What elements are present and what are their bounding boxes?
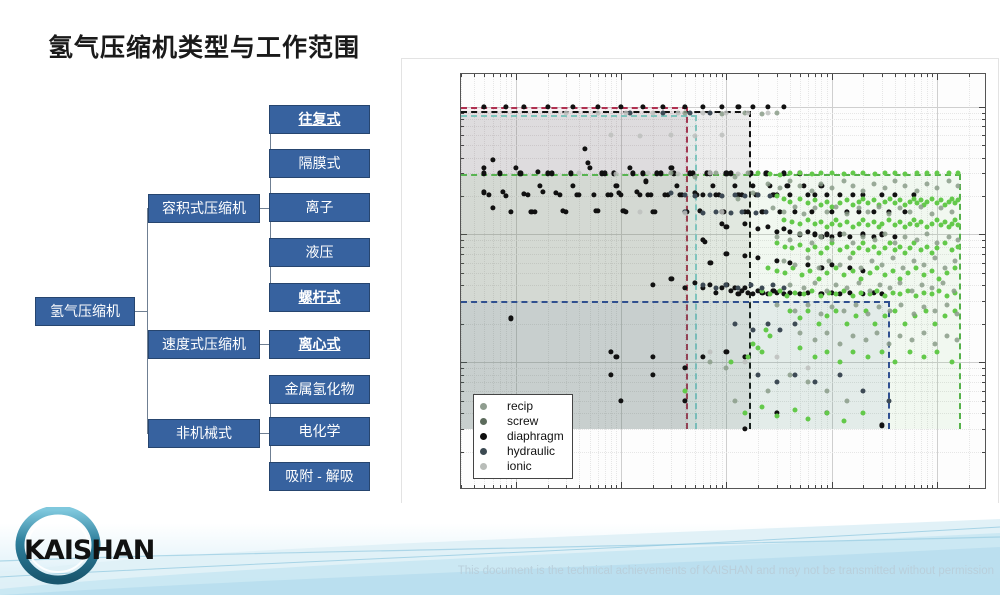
chart-point-hydraulic xyxy=(774,380,779,385)
chart-point-screw xyxy=(876,250,881,255)
chart-point-recip xyxy=(841,179,846,184)
chart-point-ionic xyxy=(650,111,655,116)
chart-tick-x xyxy=(493,74,494,77)
chart-tick-x xyxy=(726,482,727,488)
chart-point-recip xyxy=(834,204,839,209)
legend-item-screw[interactable]: screw xyxy=(480,414,564,429)
chart-tick-x xyxy=(937,74,938,80)
chart-point-screw xyxy=(875,289,880,294)
tree-node-leaf-1-0[interactable]: 离心式 xyxy=(269,330,370,359)
chart-point-recip xyxy=(861,188,866,193)
chart-point-recip xyxy=(875,330,880,335)
chart-point-hydraulic xyxy=(781,286,786,291)
chart-point-recip xyxy=(793,262,798,267)
chart-point-recip xyxy=(841,232,846,237)
chart-point-screw xyxy=(806,248,811,253)
node-label: 电化学 xyxy=(299,421,341,441)
chart-point-recip xyxy=(858,265,863,270)
chart-point-screw xyxy=(905,270,910,275)
chart-point-screw xyxy=(782,244,787,249)
chart-point-recip xyxy=(856,280,861,285)
chart-point-recip xyxy=(793,204,798,209)
chart-tick-x xyxy=(703,485,704,488)
chart-tick-x xyxy=(914,485,915,488)
legend-item-hydraulic[interactable]: hydraulic xyxy=(480,444,564,459)
legend-marker-icon xyxy=(480,403,487,410)
chart-point-hydraulic xyxy=(719,193,724,198)
chart-point-screw xyxy=(851,171,856,176)
chart-tick-x xyxy=(821,74,822,77)
chart-point-ionic xyxy=(614,172,619,177)
chart-point-recip xyxy=(787,238,792,243)
chart-tick-x xyxy=(516,74,517,80)
chart-point-hydraulic xyxy=(766,321,771,326)
chart-tick-x xyxy=(685,74,686,77)
chart-point-recip xyxy=(901,265,906,270)
chart-point-recip xyxy=(787,179,792,184)
chart-tick-x xyxy=(474,74,475,77)
chart-tick-x xyxy=(590,485,591,488)
chart-point-screw xyxy=(797,345,802,350)
chart-point-screw xyxy=(898,244,903,249)
chart-point-screw xyxy=(764,327,769,332)
chart-tick-x xyxy=(653,74,654,77)
chart-point-screw xyxy=(777,173,782,178)
chart-point-screw xyxy=(745,354,750,359)
chart-point-screw xyxy=(813,354,818,359)
chart-point-screw xyxy=(950,248,955,253)
chart-tick-y xyxy=(982,135,985,136)
chart-tick-x xyxy=(882,485,883,488)
tree-node-leaf-0-4[interactable]: 螺杆式 xyxy=(269,283,370,312)
chart-point-screw xyxy=(945,293,950,298)
chart-point-screw xyxy=(845,198,850,203)
page-title: 氢气压缩机类型与工作范围 xyxy=(48,28,360,64)
tree-node-leaf-0-3[interactable]: 液压 xyxy=(269,238,370,267)
chart-point-screw xyxy=(861,241,866,246)
chart-point-recip xyxy=(824,388,829,393)
chart-point-recip xyxy=(871,181,876,186)
chart-point-recip xyxy=(819,311,824,316)
chart-point-hydraulic xyxy=(728,210,733,215)
chart-point-recip xyxy=(863,337,868,342)
chart-point-screw xyxy=(882,273,887,278)
chart-point-recip xyxy=(892,241,897,246)
chart-point-screw xyxy=(913,293,918,298)
chart-point-recip xyxy=(851,334,856,339)
chart-point-screw xyxy=(787,171,792,176)
chart-point-recip xyxy=(930,211,935,216)
chart-point-screw xyxy=(819,220,824,225)
node-label: 速度式压缩机 xyxy=(162,334,246,354)
chart-point-recip xyxy=(899,303,904,308)
chart-tick-y xyxy=(979,362,985,363)
chart-point-recip xyxy=(911,311,916,316)
chart-tick-y xyxy=(461,452,464,453)
legend-marker-icon xyxy=(480,463,487,470)
chart-tick-x xyxy=(808,485,809,488)
chart-point-screw xyxy=(797,222,802,227)
chart-point-screw xyxy=(824,270,829,275)
chart-point-hydraulic xyxy=(771,283,776,288)
node-label: 非机械式 xyxy=(176,423,232,443)
tree-node-branch-0[interactable]: 容积式压缩机 xyxy=(148,194,260,223)
chart-point-screw xyxy=(873,172,878,177)
chart-point-screw xyxy=(809,289,814,294)
chart-tick-x xyxy=(905,74,906,77)
chart-point-recip xyxy=(865,311,870,316)
chart-point-recip xyxy=(898,280,903,285)
chart-point-recip xyxy=(903,235,908,240)
chart-tick-x xyxy=(821,485,822,488)
chart-point-hydraulic xyxy=(886,398,891,403)
chart-point-recip xyxy=(853,303,858,308)
chart-point-ionic xyxy=(719,133,724,138)
chart-tick-y xyxy=(982,429,985,430)
chart-point-recip xyxy=(797,330,802,335)
chart-tick-x xyxy=(671,485,672,488)
chart-point-screw xyxy=(837,248,842,253)
chart-point-screw xyxy=(787,199,792,204)
chart-point-screw xyxy=(756,171,761,176)
chart-point-recip xyxy=(934,186,939,191)
chart-tick-x xyxy=(863,485,864,488)
chart-point-recip xyxy=(669,171,674,176)
chart-tick-x xyxy=(969,74,970,77)
chart-point-recip xyxy=(766,388,771,393)
chart-point-screw xyxy=(956,171,961,176)
chart-point-ionic xyxy=(676,110,681,115)
chart-point-screw xyxy=(946,171,951,176)
chart-point-screw xyxy=(793,290,798,295)
chart-tick-x xyxy=(790,485,791,488)
connector-root-stub xyxy=(135,311,147,312)
chart-point-screw xyxy=(892,248,897,253)
legend-label: diaphragm xyxy=(507,429,564,444)
node-label: 隔膜式 xyxy=(299,153,341,173)
chart-point-screw xyxy=(797,171,802,176)
node-label: 液压 xyxy=(306,242,334,262)
chart-point-recip xyxy=(932,341,937,346)
chart-tick-x xyxy=(461,74,462,77)
chart-point-screw xyxy=(834,217,839,222)
chart-point-hydraulic xyxy=(739,209,744,214)
tree-node-leaf-0-2[interactable]: 离子 xyxy=(269,193,370,222)
chart-point-recip xyxy=(922,305,927,310)
chart-tick-y xyxy=(979,234,985,235)
chart-point-ionic xyxy=(564,110,569,115)
chart-point-screw xyxy=(834,292,839,297)
chart-point-recip xyxy=(873,238,878,243)
chart-point-screw xyxy=(819,203,824,208)
chart-point-hydraulic xyxy=(753,210,758,215)
chart-tick-x xyxy=(726,74,727,80)
chart-point-screw xyxy=(768,292,773,297)
chart-tick-x xyxy=(671,74,672,77)
chart-point-recip xyxy=(932,256,937,261)
chart-tick-x xyxy=(895,485,896,488)
chart-point-ionic xyxy=(669,133,674,138)
chart-point-recip xyxy=(819,181,824,186)
chart-point-recip xyxy=(876,204,881,209)
chart-tick-x xyxy=(579,74,580,77)
chart-point-recip xyxy=(915,188,920,193)
chart-point-recip xyxy=(760,111,765,116)
chart-point-screw xyxy=(950,360,955,365)
chart-tick-x xyxy=(710,74,711,77)
chart-point-recip xyxy=(692,175,697,180)
chart-point-recip xyxy=(797,183,802,188)
chart-point-screw xyxy=(799,273,804,278)
chart-point-recip xyxy=(867,289,872,294)
chart-point-recip xyxy=(951,289,956,294)
chart-point-recip xyxy=(932,309,937,314)
chart-tick-x xyxy=(621,74,622,80)
chart-point-recip xyxy=(787,372,792,377)
chart-point-screw xyxy=(907,350,912,355)
chart-point-recip xyxy=(819,235,824,240)
chart-point-screw xyxy=(841,273,846,278)
chart-point-recip xyxy=(736,196,741,201)
chart-point-recip xyxy=(802,211,807,216)
chart-point-hydraulic xyxy=(736,286,741,291)
chart-point-screw xyxy=(921,290,926,295)
legend-marker-icon xyxy=(480,418,487,425)
chart-point-recip xyxy=(745,171,750,176)
chart-point-recip xyxy=(845,211,850,216)
chart-tick-y xyxy=(982,401,985,402)
chart-tick-x xyxy=(905,485,906,488)
chart-point-recip xyxy=(708,360,713,365)
chart-point-recip xyxy=(813,206,818,211)
chart-tick-x xyxy=(484,485,485,488)
chart-point-ionic xyxy=(692,133,697,138)
chart-point-recip xyxy=(886,341,891,346)
chart-tick-x xyxy=(461,485,462,488)
chart-point-hydraulic xyxy=(708,111,713,116)
chart-point-hydraulic xyxy=(701,283,706,288)
chart-point-screw xyxy=(890,290,895,295)
chart-point-screw xyxy=(956,198,961,203)
chart-point-screw xyxy=(806,217,811,222)
legend-item-diaphragm[interactable]: diaphragm xyxy=(480,429,564,444)
chart-point-recip xyxy=(911,258,916,263)
chart-tick-x xyxy=(685,485,686,488)
chart-point-recip xyxy=(682,110,687,115)
chart-point-recip xyxy=(816,265,821,270)
chart-point-ionic xyxy=(637,209,642,214)
chart-point-screw xyxy=(892,360,897,365)
chart-point-screw xyxy=(898,292,903,297)
chart-point-screw xyxy=(781,217,786,222)
chart-point-screw xyxy=(790,220,795,225)
chart-point-screw xyxy=(923,309,928,314)
tree-node-branch-2[interactable]: 非机械式 xyxy=(148,419,260,448)
chart-point-ionic xyxy=(577,171,582,176)
chart-point-recip xyxy=(856,206,861,211)
legend-marker-icon xyxy=(480,448,487,455)
chart-point-recip xyxy=(878,283,883,288)
chart-tick-x xyxy=(790,74,791,77)
chart-point-ionic xyxy=(745,111,750,116)
chart-point-screw xyxy=(907,246,912,251)
chart-point-screw xyxy=(824,314,829,319)
tree-node-branch-1[interactable]: 速度式压缩机 xyxy=(148,330,260,359)
chart-tick-y xyxy=(982,247,985,248)
tree-node-leaf-0-0[interactable]: 往复式 xyxy=(269,105,370,134)
chart-point-ionic xyxy=(766,110,771,115)
legend-item-recip[interactable]: recip xyxy=(480,399,564,414)
chart-point-screw xyxy=(930,222,935,227)
kaishan-logo: KAISHAN xyxy=(8,507,158,585)
tree-node-leaf-2-1[interactable]: 电化学 xyxy=(269,417,370,446)
chart-point-screw xyxy=(782,270,787,275)
chart-point-screw xyxy=(882,171,887,176)
chart-point-screw xyxy=(793,408,798,413)
slide-footer: KAISHAN This document is the technical a… xyxy=(0,503,1000,595)
chart-point-recip xyxy=(774,235,779,240)
chart-point-screw xyxy=(903,172,908,177)
chart-point-screw xyxy=(882,293,887,298)
chart-point-screw xyxy=(918,220,923,225)
tree-node-leaf-2-0[interactable]: 金属氢化物 xyxy=(269,375,370,404)
chart-point-recip xyxy=(806,380,811,385)
chart-point-diaphragm xyxy=(736,104,741,109)
chart-tick-x xyxy=(895,74,896,77)
chart-point-recip xyxy=(829,186,834,191)
chart-point-recip xyxy=(890,256,895,261)
chart-point-screw xyxy=(851,268,856,273)
chart-point-recip xyxy=(777,186,782,191)
chart-point-screw xyxy=(934,171,939,176)
chart-point-recip xyxy=(909,289,914,294)
chart-point-screw xyxy=(841,418,846,423)
chart-tick-x xyxy=(500,74,501,77)
chart-point-screw xyxy=(774,193,779,198)
chart-point-diaphragm xyxy=(751,104,756,109)
chart-point-diaphragm xyxy=(781,104,786,109)
chart-point-screw xyxy=(861,217,866,222)
chart-point-screw xyxy=(871,198,876,203)
chart-point-hydraulic xyxy=(724,283,729,288)
chart-point-recip xyxy=(898,206,903,211)
tree-node-root[interactable]: 氢气压缩机 xyxy=(35,297,135,326)
chart-point-recip xyxy=(848,256,853,261)
chart-point-ionic xyxy=(646,171,651,176)
node-label: 螺杆式 xyxy=(299,287,341,307)
chart-point-screw xyxy=(892,309,897,314)
chart-point-hydraulic xyxy=(813,380,818,385)
chart-point-screw xyxy=(851,250,856,255)
chart-point-recip xyxy=(787,283,792,288)
chart-tick-y xyxy=(982,273,985,274)
chart-point-recip xyxy=(954,311,959,316)
chart-point-screw xyxy=(867,270,872,275)
chart-point-screw xyxy=(819,293,824,298)
chart-point-screw xyxy=(879,350,884,355)
chart-point-screw xyxy=(861,411,866,416)
chart-point-screw xyxy=(845,244,850,249)
chart-point-screw xyxy=(907,222,912,227)
chart-point-recip xyxy=(921,330,926,335)
chart-tick-y xyxy=(982,368,985,369)
chart-point-screw xyxy=(824,246,829,251)
legend-item-ionic[interactable]: ionic xyxy=(480,459,564,474)
compressor-type-tree: 氢气压缩机容积式压缩机往复式隔膜式离子液压螺杆式速度式压缩机离心式非机械式金属氢… xyxy=(0,95,400,505)
chart-point-screw xyxy=(892,201,897,206)
tree-node-leaf-2-2[interactable]: 吸附 - 解吸 xyxy=(269,462,370,491)
chart-tick-x xyxy=(566,74,567,77)
chart-point-screw xyxy=(816,321,821,326)
chart-tick-x xyxy=(506,485,507,488)
chart-point-ionic xyxy=(742,360,747,365)
chart-point-screw xyxy=(930,292,935,297)
chart-tick-x xyxy=(474,485,475,488)
tree-node-leaf-0-1[interactable]: 隔膜式 xyxy=(269,149,370,178)
chart-point-recip xyxy=(837,262,842,267)
chart-point-hydraulic xyxy=(760,286,765,291)
chart-point-screw xyxy=(834,309,839,314)
chart-point-recip xyxy=(802,286,807,291)
chart-tick-x xyxy=(605,74,606,77)
chart-point-screw xyxy=(943,314,948,319)
chart-point-recip xyxy=(956,183,961,188)
chart-point-recip xyxy=(945,303,950,308)
chart-tick-y xyxy=(982,324,985,325)
chart-point-hydraulic xyxy=(756,372,761,377)
chart-tick-x xyxy=(703,74,704,77)
chart-tick-y xyxy=(982,285,985,286)
chart-point-hydraulic xyxy=(714,209,719,214)
chart-point-hydraulic xyxy=(701,210,706,215)
chart-point-screw xyxy=(851,203,856,208)
chart-point-screw xyxy=(913,265,918,270)
chart-point-diaphragm xyxy=(766,104,771,109)
chart-point-recip xyxy=(732,398,737,403)
chart-point-recip xyxy=(837,341,842,346)
chart-point-ionic xyxy=(676,172,681,177)
chart-point-screw xyxy=(813,222,818,227)
chart-point-recip xyxy=(950,209,955,214)
chart-point-hydraulic xyxy=(768,193,773,198)
chart-point-screw xyxy=(956,223,961,228)
chart-point-recip xyxy=(909,337,914,342)
chart-point-screw xyxy=(924,224,929,229)
chart-point-recip xyxy=(945,334,950,339)
chart-point-recip xyxy=(882,186,887,191)
chart-point-screw xyxy=(806,309,811,314)
chart-point-recip xyxy=(941,280,946,285)
chart-tick-y xyxy=(982,158,985,159)
chart-point-screw xyxy=(728,360,733,365)
connector-root-spine xyxy=(147,208,148,433)
chart-point-screw xyxy=(945,270,950,275)
chart-point-screw xyxy=(898,198,903,203)
chart-tick-x xyxy=(500,485,501,488)
chart-tick-y xyxy=(982,113,985,114)
chart-point-recip xyxy=(781,258,786,263)
chart-point-hydraulic xyxy=(764,209,769,214)
chart-point-ionic xyxy=(708,350,713,355)
chart-point-recip xyxy=(771,206,776,211)
chart-point-screw xyxy=(851,224,856,229)
node-label: 离心式 xyxy=(299,334,341,354)
chart-point-screw xyxy=(903,321,908,326)
chart-tick-x xyxy=(722,485,723,488)
chart-point-screw xyxy=(915,171,920,176)
chart-point-screw xyxy=(809,172,814,177)
chart-point-screw xyxy=(911,217,916,222)
